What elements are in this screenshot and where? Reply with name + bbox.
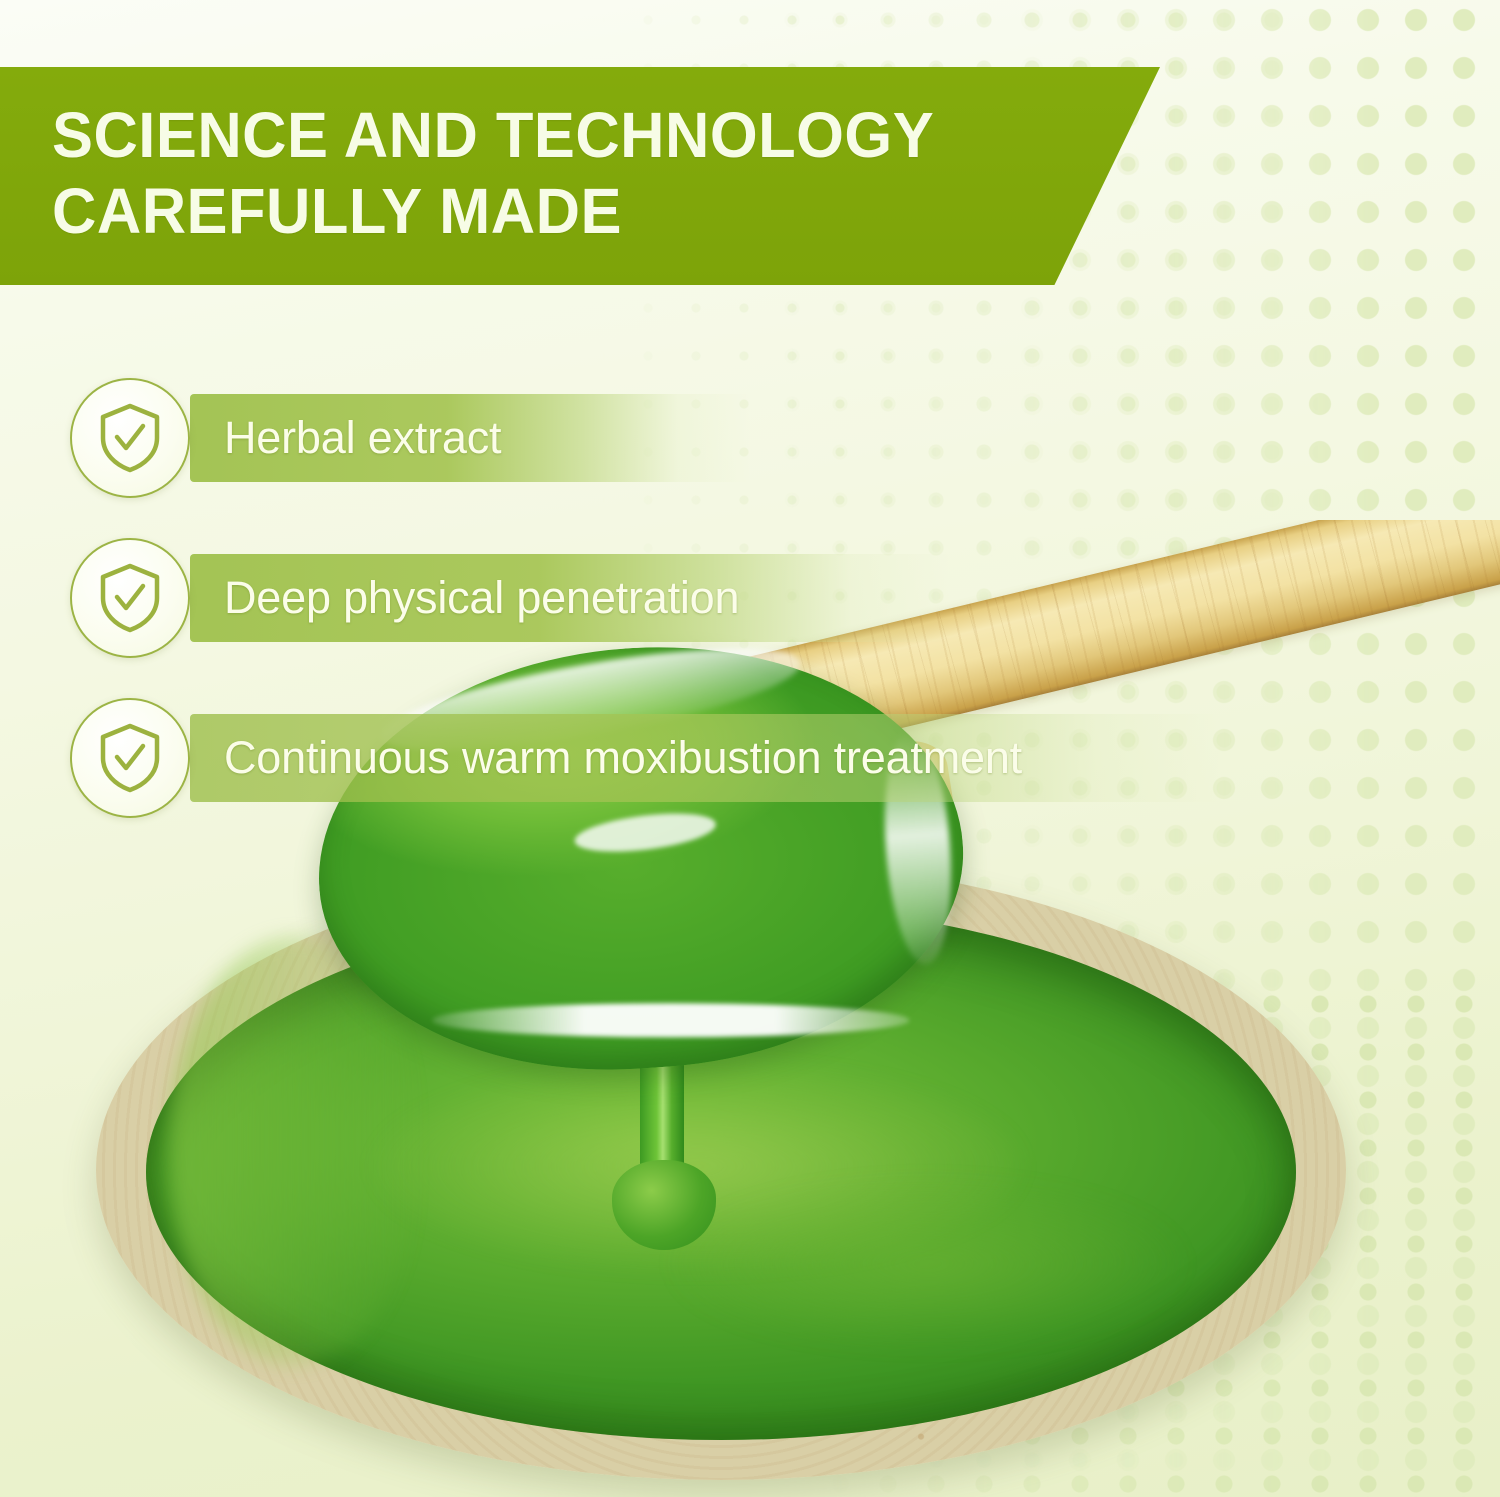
shield-check-badge [70, 378, 190, 498]
product-feature-poster: SCIENCE AND TECHNOLOGY CAREFULLY MADE He… [0, 0, 1500, 1497]
shield-check-icon [97, 722, 163, 794]
product-photo [0, 520, 1500, 1497]
feature-label: Continuous warm moxibustion treatment [224, 698, 1022, 818]
feature-label: Herbal extract [224, 378, 501, 498]
feature-label: Deep physical penetration [224, 538, 739, 658]
paste-rim-highlight [433, 1003, 910, 1037]
page-title: SCIENCE AND TECHNOLOGY CAREFULLY MADE [52, 97, 1060, 249]
shield-check-icon [97, 402, 163, 474]
shield-check-badge [70, 538, 190, 658]
shield-check-badge [70, 698, 190, 818]
paste-swirl-highlight-b [675, 1183, 1181, 1344]
shield-check-icon [97, 562, 163, 634]
